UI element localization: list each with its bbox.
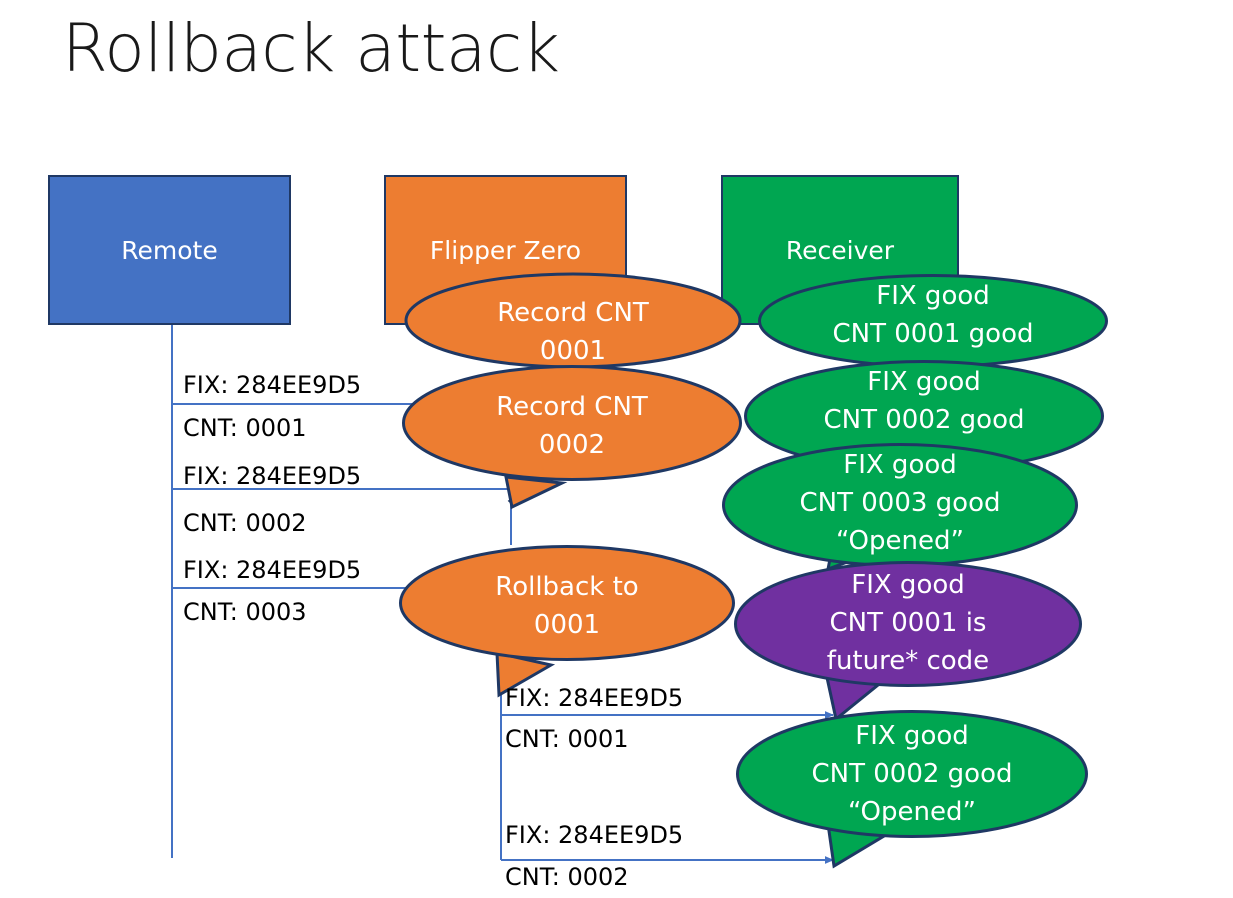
message-fix-m5: FIX: 284EE9D5 <box>505 821 683 849</box>
bubble-text-record-0001: Record CNT 0001 <box>405 294 741 370</box>
bubble-record-0002[interactable]: Record CNT 0002 <box>402 365 742 507</box>
bubble-text-recv-0002: FIX good CNT 0002 good <box>744 363 1104 439</box>
bubble-recv-final[interactable]: FIX good CNT 0002 good “Opened” <box>736 710 1088 870</box>
message-cnt-m1: CNT: 0001 <box>183 414 307 442</box>
bubble-text-recv-final: FIX good CNT 0002 good “Opened” <box>736 717 1088 832</box>
bubble-text-recv-0001: FIX good CNT 0001 good <box>758 277 1108 353</box>
message-fix-m2: FIX: 284EE9D5 <box>183 462 361 490</box>
actor-label-remote: Remote <box>50 236 289 323</box>
bubble-recv-0001[interactable]: FIX good CNT 0001 good <box>758 274 1108 368</box>
message-cnt-m3: CNT: 0003 <box>183 598 307 626</box>
message-cnt-m5: CNT: 0002 <box>505 863 629 891</box>
message-fix-m3: FIX: 284EE9D5 <box>183 556 361 584</box>
bubble-rollback[interactable]: Rollback to 0001 <box>399 545 735 695</box>
bubble-recv-0003[interactable]: FIX good CNT 0003 good “Opened” <box>722 443 1078 571</box>
message-fix-m1: FIX: 284EE9D5 <box>183 371 361 399</box>
message-cnt-m2: CNT: 0002 <box>183 509 307 537</box>
bubble-recv-future[interactable]: FIX good CNT 0001 is future* code <box>734 561 1082 721</box>
page-title: Rollback attack <box>62 10 559 87</box>
bubble-text-record-0002: Record CNT 0002 <box>402 388 742 464</box>
bubble-text-rollback: Rollback to 0001 <box>399 568 735 644</box>
actor-box-remote[interactable]: Remote <box>48 175 291 325</box>
bubble-text-recv-future: FIX good CNT 0001 is future* code <box>734 566 1082 681</box>
bubble-text-recv-0003: FIX good CNT 0003 good “Opened” <box>722 446 1078 561</box>
message-fix-m4: FIX: 284EE9D5 <box>505 684 683 712</box>
slide-canvas: Rollback attack Remote Flipper Zero Rece… <box>0 0 1233 898</box>
bubble-record-0001[interactable]: Record CNT 0001 <box>405 273 741 368</box>
message-cnt-m4: CNT: 0001 <box>505 725 629 753</box>
